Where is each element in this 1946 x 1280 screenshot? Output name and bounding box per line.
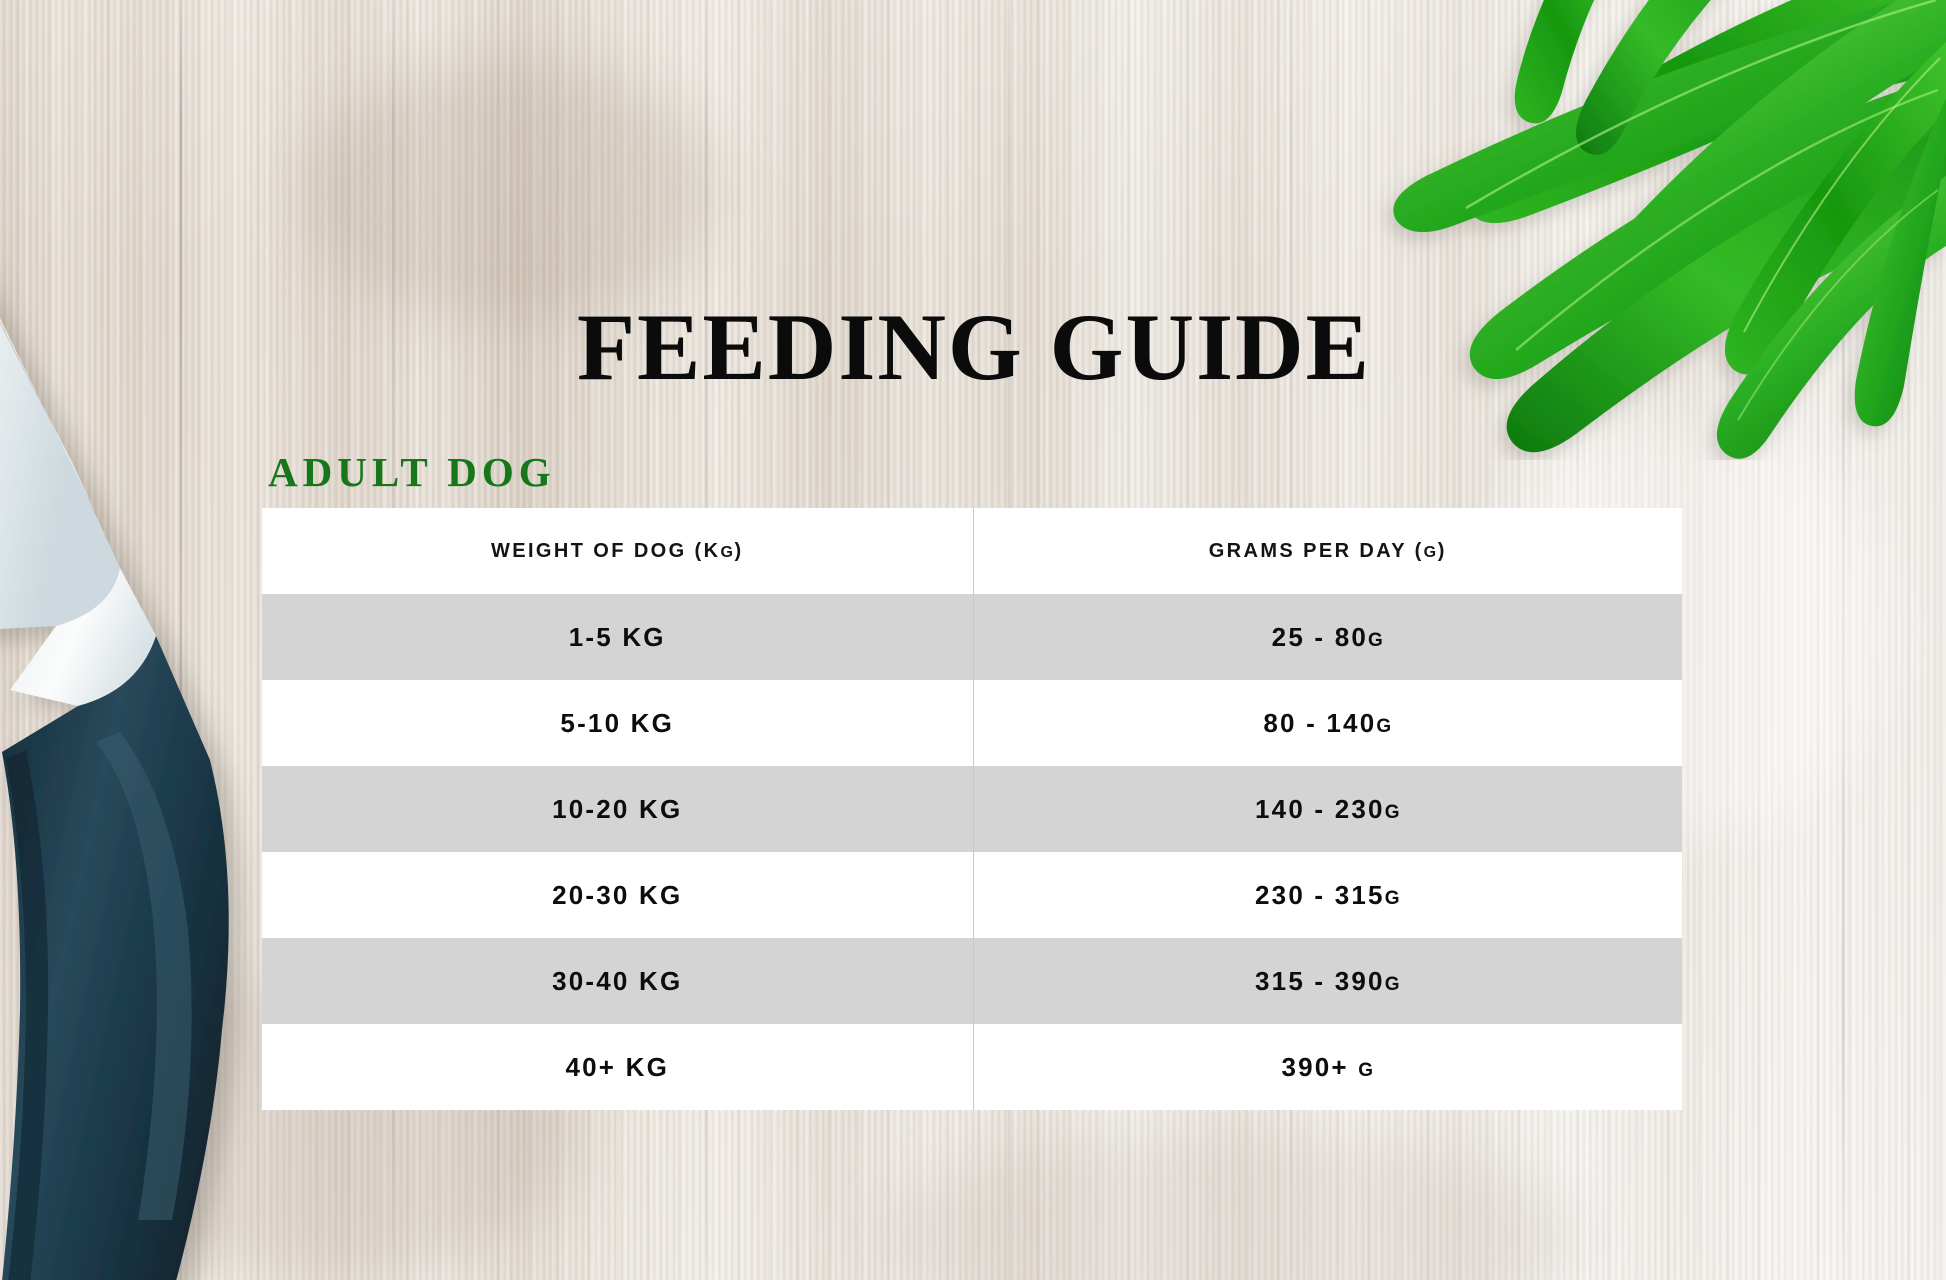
- cell-grams-unit: G: [1385, 974, 1401, 995]
- cell-grams: 230 - 315G: [973, 852, 1682, 938]
- column-header-grams-tail: ): [1438, 540, 1447, 562]
- table-row: 40+ KG 390+ G: [262, 1024, 1682, 1110]
- cell-weight: 20-30 KG: [262, 852, 973, 938]
- cell-grams: 315 - 390G: [973, 938, 1682, 1024]
- table-header-row: WEIGHT OF DOG (KG) GRAMS PER DAY (G): [262, 508, 1682, 594]
- cell-weight: 10-20 KG: [262, 766, 973, 852]
- column-header-weight-main: WEIGHT OF DOG (K: [491, 540, 721, 562]
- cell-grams-value: 140 - 230: [1255, 794, 1385, 824]
- cell-grams-unit: G: [1385, 802, 1401, 823]
- column-header-grams-unit: G: [1424, 544, 1438, 561]
- cell-grams-unit: G: [1368, 630, 1384, 651]
- cell-grams: 140 - 230G: [973, 766, 1682, 852]
- cell-weight: 40+ KG: [262, 1024, 973, 1110]
- column-header-weight-unit: G: [720, 544, 734, 561]
- page-title: FEEDING GUIDE: [0, 300, 1946, 395]
- table-row: 5-10 KG 80 - 140G: [262, 680, 1682, 766]
- cell-grams-value: 230 - 315: [1255, 880, 1385, 910]
- cell-grams-unit: G: [1376, 716, 1392, 737]
- column-header-grams-main: GRAMS PER DAY (: [1209, 540, 1424, 562]
- table-row: 1-5 KG 25 - 80G: [262, 594, 1682, 680]
- column-header-grams: GRAMS PER DAY (G): [973, 508, 1682, 594]
- cell-grams-value: 80 - 140: [1263, 708, 1376, 738]
- table-row: 10-20 KG 140 - 230G: [262, 766, 1682, 852]
- cell-grams: 25 - 80G: [973, 594, 1682, 680]
- table-row: 20-30 KG 230 - 315G: [262, 852, 1682, 938]
- cell-weight: 5-10 KG: [262, 680, 973, 766]
- cell-grams-unit: G: [1358, 1060, 1374, 1081]
- cell-weight: 30-40 KG: [262, 938, 973, 1024]
- column-header-weight-tail: ): [734, 540, 743, 562]
- cell-grams: 80 - 140G: [973, 680, 1682, 766]
- cell-grams-value: 390+: [1281, 1052, 1358, 1082]
- cell-grams: 390+ G: [973, 1024, 1682, 1110]
- wood-seam: [1842, 0, 1844, 1280]
- cell-grams-unit: G: [1385, 888, 1401, 909]
- column-header-weight: WEIGHT OF DOG (KG): [262, 508, 973, 594]
- feeding-guide-poster: FEEDING GUIDE ADULT DOG WEIGHT OF DOG (K…: [0, 0, 1946, 1280]
- feeding-guide-table: WEIGHT OF DOG (KG) GRAMS PER DAY (G) 1-5…: [262, 508, 1682, 1110]
- cell-grams-value: 25 - 80: [1272, 622, 1368, 652]
- cell-grams-value: 315 - 390: [1255, 966, 1385, 996]
- table-row: 30-40 KG 315 - 390G: [262, 938, 1682, 1024]
- wood-seam: [180, 0, 182, 1280]
- cell-weight: 1-5 KG: [262, 594, 973, 680]
- section-title: ADULT DOG: [268, 452, 556, 493]
